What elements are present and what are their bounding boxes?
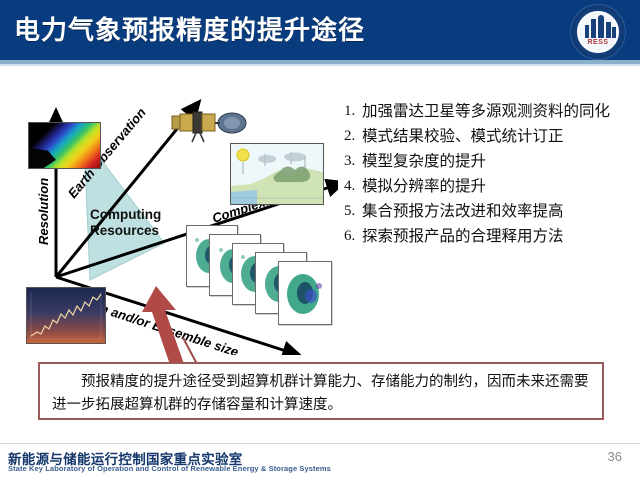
callout-box: 预报精度的提升途径受到超算机群计算能力、存储能力的制约，因而未来还需要进一步拓展… [38,362,604,420]
satellite-sst-image [28,122,101,169]
logo-ring-text-icon [570,4,626,60]
list-item: 2. 模式结果校验、模式统计订正 [344,125,634,148]
list-item-number: 5. [344,200,362,223]
list-item-label: 模型复杂度的提升 [362,150,634,173]
forecast-capability-diagram: Resolution Earth Observation Complexity … [18,95,338,355]
time-series-plot-image [26,287,106,344]
footer-divider [0,443,640,444]
page-title: 电力气象预报精度的提升途径 [14,11,365,49]
list-item: 4. 模拟分辨率的提升 [344,175,634,198]
center-label-line2: Resources [90,223,159,238]
list-item-number: 2. [344,125,362,148]
list-item: 1. 加强雷达卫星等多源观测资料的同化 [344,100,634,123]
list-item-label: 集合预报方法改进和效率提高 [362,200,634,223]
axis-label-resolution: Resolution [36,178,51,245]
list-item-label: 模拟分辨率的提升 [362,175,634,198]
list-item-label: 加强雷达卫星等多源观测资料的同化 [362,100,634,123]
ensemble-map-5 [278,261,332,325]
list-item: 3. 模型复杂度的提升 [344,150,634,173]
satellite-spacecraft-image [170,101,252,145]
page-number: 36 [608,449,622,464]
ress-seal-logo: RESS [570,4,626,60]
key-points-list: 1. 加强雷达卫星等多源观测资料的同化 2. 模式结果校验、模式统计订正 3. … [344,100,634,250]
list-item-label: 模式结果校验、模式统计订正 [362,125,634,148]
earth-system-diagram-image [230,143,324,205]
center-label-line1: Computing [90,207,161,222]
list-item-number: 3. [344,150,362,173]
list-item: 5. 集合预报方法改进和效率提高 [344,200,634,223]
footer-lab-name-en: State Key Laboratory of Operation and Co… [8,464,331,473]
list-item-label: 探索预报产品的合理释用方法 [362,225,634,248]
header-underline-secondary [0,64,640,66]
list-item-number: 4. [344,175,362,198]
list-item-number: 1. [344,100,362,123]
list-item-number: 6. [344,225,362,248]
list-item: 6. 探索预报产品的合理释用方法 [344,225,634,248]
callout-text: 预报精度的提升途径受到超算机群计算能力、存储能力的制约，因而未来还需要进一步拓展… [40,364,602,417]
slide-root: 电力气象预报精度的提升途径 RESS [0,0,640,480]
